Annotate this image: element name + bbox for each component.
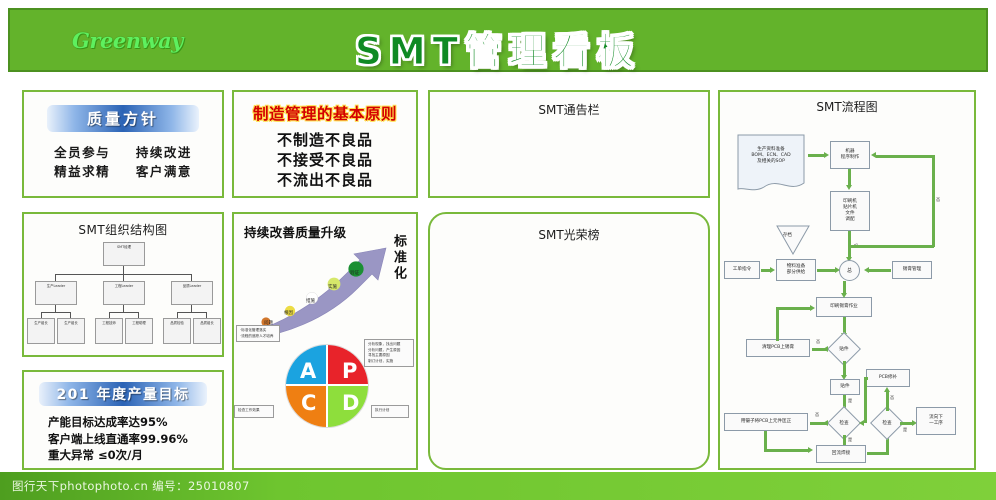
org-node-sub xyxy=(106,299,107,303)
board-header: Greenway SMT管理看板 xyxy=(8,8,988,72)
panel-continuous-improvement: 持续改善质量升级 标准化 现状 问题 根因 措施 实施 验证 A P C D ·… xyxy=(232,212,418,470)
pdca-letter-a: A xyxy=(300,359,316,383)
org-node-sub xyxy=(166,338,167,342)
honour-roll-title: SMT光荣榜 xyxy=(430,214,708,243)
production-target-banner: 201 年度产量目标 xyxy=(39,382,207,406)
pdca-letter-p: P xyxy=(342,359,357,383)
flow-node-sum: 总 xyxy=(839,260,860,281)
pdca-diagram: A P C D ·标准化管理落实 ·流程的追踪人才培养 分析现象，找出问题 分析… xyxy=(234,339,416,469)
flow-arrow-head xyxy=(846,185,852,190)
org-node-sub xyxy=(106,260,107,264)
policy-line1-b: 持续改进 xyxy=(136,143,192,162)
principle-line-2: 不流出不良品 xyxy=(234,171,416,191)
flowchart-title: SMT流程图 xyxy=(720,92,974,115)
flow-node-check-paste: 贴件 xyxy=(836,346,852,352)
footer-site: 图行天下photophoto.cn xyxy=(12,479,148,493)
flow-label-yes-right: 是 xyxy=(848,437,852,443)
flow-node-doc: 生产资料准备 BOM、ECN、CAD 及相关的SOP xyxy=(738,141,804,171)
org-node-label: 生产组长 xyxy=(58,319,84,326)
flow-node-archive: 存档 xyxy=(783,232,792,238)
flow-arrow xyxy=(764,431,767,451)
flowchart-graphic: 生产资料准备 BOM、ECN、CAD 及相关的SOP 机器 程序制作 印刷机 贴… xyxy=(720,115,974,467)
org-connector xyxy=(123,305,124,312)
flow-arrow xyxy=(808,154,824,157)
org-node-label: 品质Leader xyxy=(172,282,212,289)
flow-arrow xyxy=(869,269,891,272)
org-connector xyxy=(123,266,124,274)
panel-production-target: 201 年度产量目标 产能目标达成率达95% 客户端上线直通率99.96% 重大… xyxy=(22,370,224,470)
flow-node-workorder: 工单指令 xyxy=(724,261,760,279)
principles-lines: 不制造不良品 不接受不良品 不流出不良品 xyxy=(234,131,416,190)
org-node-l3-3: 工程助理 xyxy=(125,318,153,344)
panel-org-chart: SMT组织结构图 SMT经理 生产Leader 工程Leader xyxy=(22,212,224,357)
org-connector xyxy=(177,312,206,313)
flow-arrow xyxy=(848,245,934,248)
panel-honour-roll: SMT光荣榜 xyxy=(428,212,710,470)
pdca-note-bottom-left: 检查工作效果 xyxy=(234,405,274,418)
flow-node-inspect2: 检查 xyxy=(879,420,895,426)
org-connector xyxy=(123,274,124,281)
flow-label-no-left: 否 xyxy=(816,339,820,345)
flow-node-clean-pcb: 清理PCB上锡膏 xyxy=(746,339,810,357)
flow-arrow xyxy=(812,348,828,351)
flow-label-no-left-2: 否 xyxy=(815,412,819,418)
step-label-4: 实施 xyxy=(328,284,337,290)
step-label-3: 措施 xyxy=(306,298,315,304)
flow-arrow xyxy=(932,155,935,247)
flow-node-program: 机器 程序制作 xyxy=(830,141,870,169)
footer-bar: 图行天下photophoto.cn 编号：25010807 xyxy=(0,472,996,500)
org-node-label: 工程Leader xyxy=(104,282,144,289)
pdca-letter-d: D xyxy=(342,391,359,415)
principle-line-0: 不制造不良品 xyxy=(234,131,416,151)
org-node-sub xyxy=(60,338,61,342)
flow-arrow xyxy=(776,319,779,341)
target-line-2: 重大异常 ≤0次/月 xyxy=(48,447,222,464)
org-node-label: 生产组长 xyxy=(28,319,54,326)
org-node-sub xyxy=(174,299,175,303)
org-node-l2-2: 品质Leader xyxy=(171,281,213,305)
policy-line1-a: 全员参与 xyxy=(54,143,110,162)
flow-label-no-up: 否 xyxy=(890,395,894,401)
panel-smt-flowchart: SMT流程图 生产资料准备 BOM、ECN、CAD 及相关的SOP 机器 程序制… xyxy=(718,90,976,470)
flow-node-solder-mgmt: 锡膏管理 xyxy=(892,261,932,279)
org-connector xyxy=(109,312,138,313)
org-node-sub xyxy=(98,338,99,342)
step-label-5: 验证 xyxy=(350,270,359,276)
principles-title: 制造管理的基本原则 xyxy=(234,102,416,124)
flow-arrow-head xyxy=(824,152,829,158)
flow-arrow xyxy=(848,231,851,257)
flow-arrow-head xyxy=(810,305,815,311)
org-node-l3-0: 生产组长 xyxy=(27,318,55,344)
flow-arrow xyxy=(848,169,851,185)
principle-line-1: 不接受不良品 xyxy=(234,151,416,171)
pdca-divider xyxy=(326,345,328,427)
org-node-label: 品质组长 xyxy=(194,319,220,326)
policy-line2-b: 客户满意 xyxy=(136,162,192,181)
flow-arrow-head xyxy=(841,293,847,298)
pdca-letter-c: C xyxy=(301,391,316,415)
flow-arrow xyxy=(810,422,828,425)
quality-policy-banner: 质量方针 xyxy=(47,105,199,132)
footer-credit: 图行天下photophoto.cn 编号：25010807 xyxy=(12,478,250,494)
flow-node-reflow: 回流焊接 xyxy=(816,445,866,463)
flow-node-inspect1: 检查 xyxy=(836,420,852,426)
org-connector xyxy=(191,274,192,281)
target-line-1: 客户端上线直通率99.96% xyxy=(48,431,222,448)
production-target-lines: 产能目标达成率达95% 客户端上线直通率99.96% 重大异常 ≤0次/月 xyxy=(24,414,222,464)
org-node-label: 品质检验 xyxy=(164,319,190,326)
flow-label-yes-down: 是 xyxy=(848,398,852,404)
flow-arrow xyxy=(843,361,846,375)
flow-arrow xyxy=(876,155,935,158)
flow-arrow xyxy=(886,391,889,411)
quality-policy-lines: 全员参与 持续改进 精益求精 客户满意 xyxy=(24,143,222,182)
smt-kanban-board: Greenway SMT管理看板 质量方针 全员参与 持续改进 精益求精 客户满… xyxy=(0,0,996,500)
page-title: SMT管理看板 xyxy=(10,21,986,75)
footer-code-label: 编号： xyxy=(152,479,188,493)
org-node-l2-0: 生产Leader xyxy=(35,281,77,305)
pdca-note-bottom-right: 执行计划 xyxy=(371,405,409,418)
org-node-sub xyxy=(38,299,39,303)
org-node-sub xyxy=(128,338,129,342)
bulletin-title: SMT通告栏 xyxy=(430,92,708,118)
footer-code: 25010807 xyxy=(188,479,250,493)
flow-label-yes-end: 是 xyxy=(903,427,907,433)
org-node-label: 生产Leader xyxy=(36,282,76,289)
flow-arrow-head xyxy=(859,420,864,426)
flow-arrow-head xyxy=(770,267,775,273)
org-node-l2-1: 工程Leader xyxy=(103,281,145,305)
flow-archive-triangle-icon xyxy=(776,225,810,255)
org-chart-title: SMT组织结构图 xyxy=(24,214,222,238)
org-node-sub xyxy=(30,338,31,342)
org-node-label: 工程助理 xyxy=(126,319,152,326)
policy-line2-a: 精益求精 xyxy=(54,162,110,181)
org-node-l3-4: 品质检验 xyxy=(163,318,191,344)
flow-arrow xyxy=(864,377,867,423)
org-connector xyxy=(41,312,70,313)
panel-quality-policy: 质量方针 全员参与 持续改进 精益求精 客户满意 xyxy=(22,90,224,198)
target-line-0: 产能目标达成率达95% xyxy=(48,414,222,431)
flow-node-repair: PCB修补 xyxy=(866,369,910,387)
flow-node-material: 物料准备 部分供给 xyxy=(776,259,816,281)
org-node-l3-1: 生产组长 xyxy=(57,318,85,344)
flow-node-tweezer: 用镊子将PCB上元件匡正 xyxy=(724,413,808,431)
org-node-l3-2: 工程技师 xyxy=(95,318,123,344)
org-connector xyxy=(191,305,192,312)
org-node-sub xyxy=(196,338,197,342)
org-node-l3-5: 品质组长 xyxy=(193,318,221,344)
flow-arrow-head xyxy=(884,387,890,392)
flow-arrow xyxy=(776,307,812,310)
pdca-note-top-left: ·标准化管理落实 ·流程的追踪人才培养 xyxy=(236,325,280,342)
panel-bulletin-board: SMT通告栏 xyxy=(428,90,710,198)
flow-node-filesetup: 印刷机 贴片机 文件 调配 xyxy=(830,191,870,231)
org-node-root: SMT经理 xyxy=(103,242,145,266)
flow-arrow-head xyxy=(871,152,876,158)
flow-arrow xyxy=(817,269,835,272)
flow-node-print-op: 印刷锡膏作业 xyxy=(816,297,872,317)
flow-arrow-head xyxy=(808,447,813,453)
panel-manufacturing-principles: 制造管理的基本原则 不制造不良品 不接受不良品 不流出不良品 xyxy=(232,90,418,198)
flow-node-next: 流向下 一工序 xyxy=(916,407,956,435)
org-connector xyxy=(55,274,56,281)
flow-label-no-top: 否 xyxy=(936,197,940,203)
step-label-2: 根因 xyxy=(284,310,293,316)
org-node-label: 工程技师 xyxy=(96,319,122,326)
flow-arrow xyxy=(776,307,779,321)
flow-arrow xyxy=(761,269,770,272)
flow-node-mount: 贴件 xyxy=(830,379,860,395)
flow-arrow xyxy=(764,449,808,452)
pdca-note-top-right: 分析现象，找出问题 分析问题，产生原因 寻找主要原因 制订计划，实施 xyxy=(364,339,414,367)
org-connector xyxy=(55,305,56,312)
org-chart-graphic: SMT经理 生产Leader 工程Leader 品质Leader xyxy=(24,240,222,350)
org-node-label: SMT经理 xyxy=(104,243,144,250)
